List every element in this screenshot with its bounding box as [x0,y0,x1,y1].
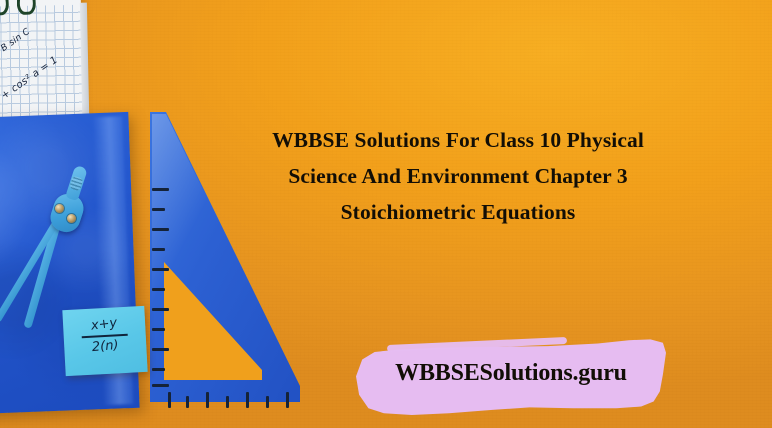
ruler-tick [286,392,289,408]
ruler-tick [186,396,189,408]
ruler-tick [206,392,209,408]
brand-badge[interactable]: WBBSESolutions.guru [356,336,666,420]
sticky-note-formula: x+y 2(n) [63,316,147,357]
ruler-tick [152,228,169,231]
ruler-tick [152,368,165,371]
page-title-line-2: Science And Environment Chapter 3 [262,158,654,194]
ruler-tick [152,248,165,251]
ruler-tick [226,396,229,408]
ruler-tick [152,268,169,271]
ruler-tick [152,288,165,291]
ruler-tick [152,188,169,191]
page-title-line-3: Stoichiometric Equations [262,194,654,230]
ruler-tick [152,348,169,351]
spiral-notebook: sin B sin C sin A = b sin² a + cos² a = … [0,0,83,123]
compass-screw [67,214,76,223]
ruler-tick [152,328,165,331]
poster-canvas: sin B sin C sin A = b sin² a + cos² a = … [0,0,772,428]
brand-badge-label: WBBSESolutions.guru [356,360,666,387]
ruler-tick [152,208,165,211]
compass-knob [65,165,88,201]
page-title-line-1: WBBSE Solutions For Class 10 Physical [262,122,654,158]
page-title: WBBSE Solutions For Class 10 Physical Sc… [262,122,654,230]
compass-screw [55,204,64,213]
ruler-tick [266,396,269,408]
ruler-tick [168,392,171,408]
ruler-tick [152,308,169,311]
sticky-note: x+y 2(n) [62,306,147,376]
ruler-tick [152,384,169,387]
ruler-tick [246,392,249,408]
fraction-denominator: 2(n) [64,336,147,358]
